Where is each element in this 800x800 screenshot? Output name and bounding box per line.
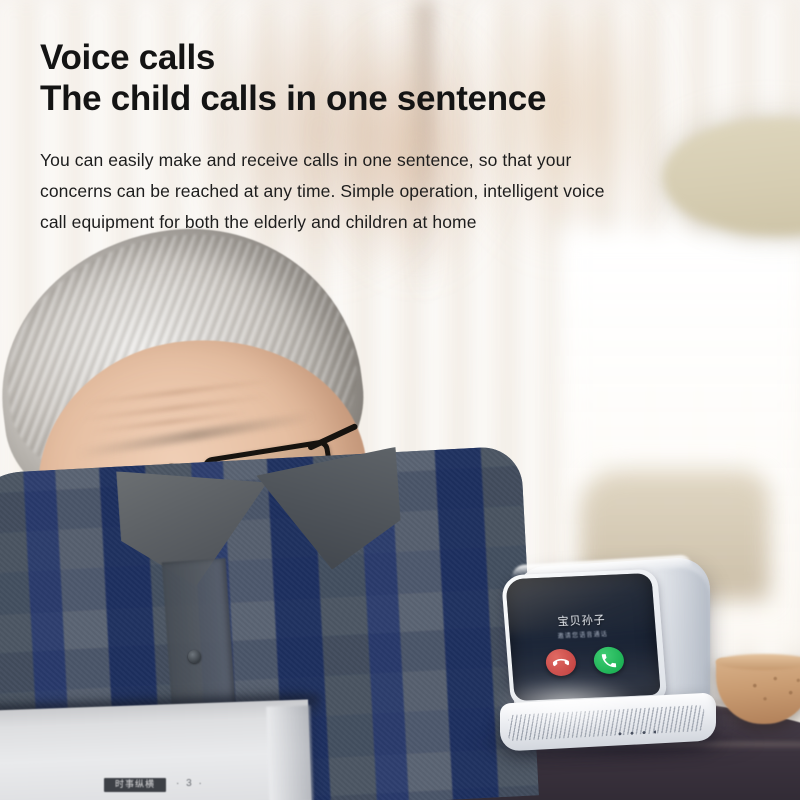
wooden-bowl-grain bbox=[742, 668, 800, 712]
headline-line-2: The child calls in one sentence bbox=[40, 79, 660, 120]
book-page-number: · 3 · bbox=[176, 778, 204, 789]
phone-hangup-icon bbox=[552, 654, 569, 671]
book-section-label: 时事纵横 bbox=[115, 781, 155, 790]
device-base-glow bbox=[492, 680, 642, 730]
book-section-badge: 时事纵横 bbox=[104, 778, 166, 792]
phone-answer-icon bbox=[600, 652, 617, 669]
body-paragraph: You can easily make and receive calls in… bbox=[40, 145, 630, 238]
decline-call-button[interactable] bbox=[545, 648, 577, 676]
promo-scene: 宝贝孙子 邀请您语音通话 bbox=[0, 0, 800, 800]
book-page-edge bbox=[266, 705, 313, 800]
marketing-copy: Voice calls The child calls in one sente… bbox=[40, 38, 660, 239]
accept-call-button[interactable] bbox=[593, 646, 625, 674]
shirt-button bbox=[188, 650, 201, 663]
headline-line-1: Voice calls bbox=[40, 38, 660, 79]
smart-display-device[interactable]: 宝贝孙子 邀请您语音通话 bbox=[498, 558, 722, 753]
